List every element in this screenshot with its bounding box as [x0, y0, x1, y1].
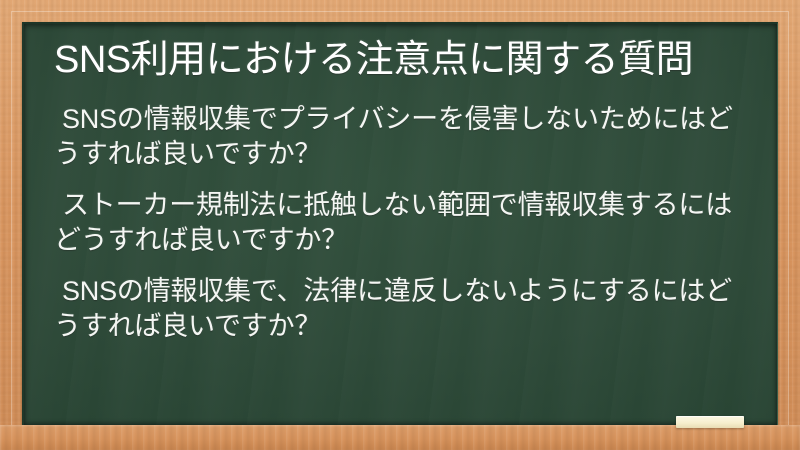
page-title: SNS利用における注意点に関する質問 [54, 38, 751, 84]
chalkboard-content: SNS利用における注意点に関する質問 SNSの情報収集でプライバシーを侵害しない… [24, 24, 777, 344]
chalk-ledge [0, 425, 800, 450]
question-list: SNSの情報収集でプライバシーを侵害しないためにはどうすれば良いですか？ ストー… [50, 102, 751, 345]
chalkboard-surface: SNS利用における注意点に関する質問 SNSの情報収集でプライバシーを侵害しない… [22, 22, 778, 425]
list-item: ストーカー規制法に抵触しない範囲で情報収集するにはどうすれば良いですか？ [50, 188, 751, 258]
chalkboard-wooden-frame: SNS利用における注意点に関する質問 SNSの情報収集でプライバシーを侵害しない… [0, 0, 800, 450]
list-item: SNSの情報収集で、法律に違反しないようにするにはどうすれば良いですか？ [50, 274, 751, 344]
list-item: SNSの情報収集でプライバシーを侵害しないためにはどうすれば良いですか？ [50, 102, 751, 172]
chalk-stick-icon [676, 416, 744, 428]
